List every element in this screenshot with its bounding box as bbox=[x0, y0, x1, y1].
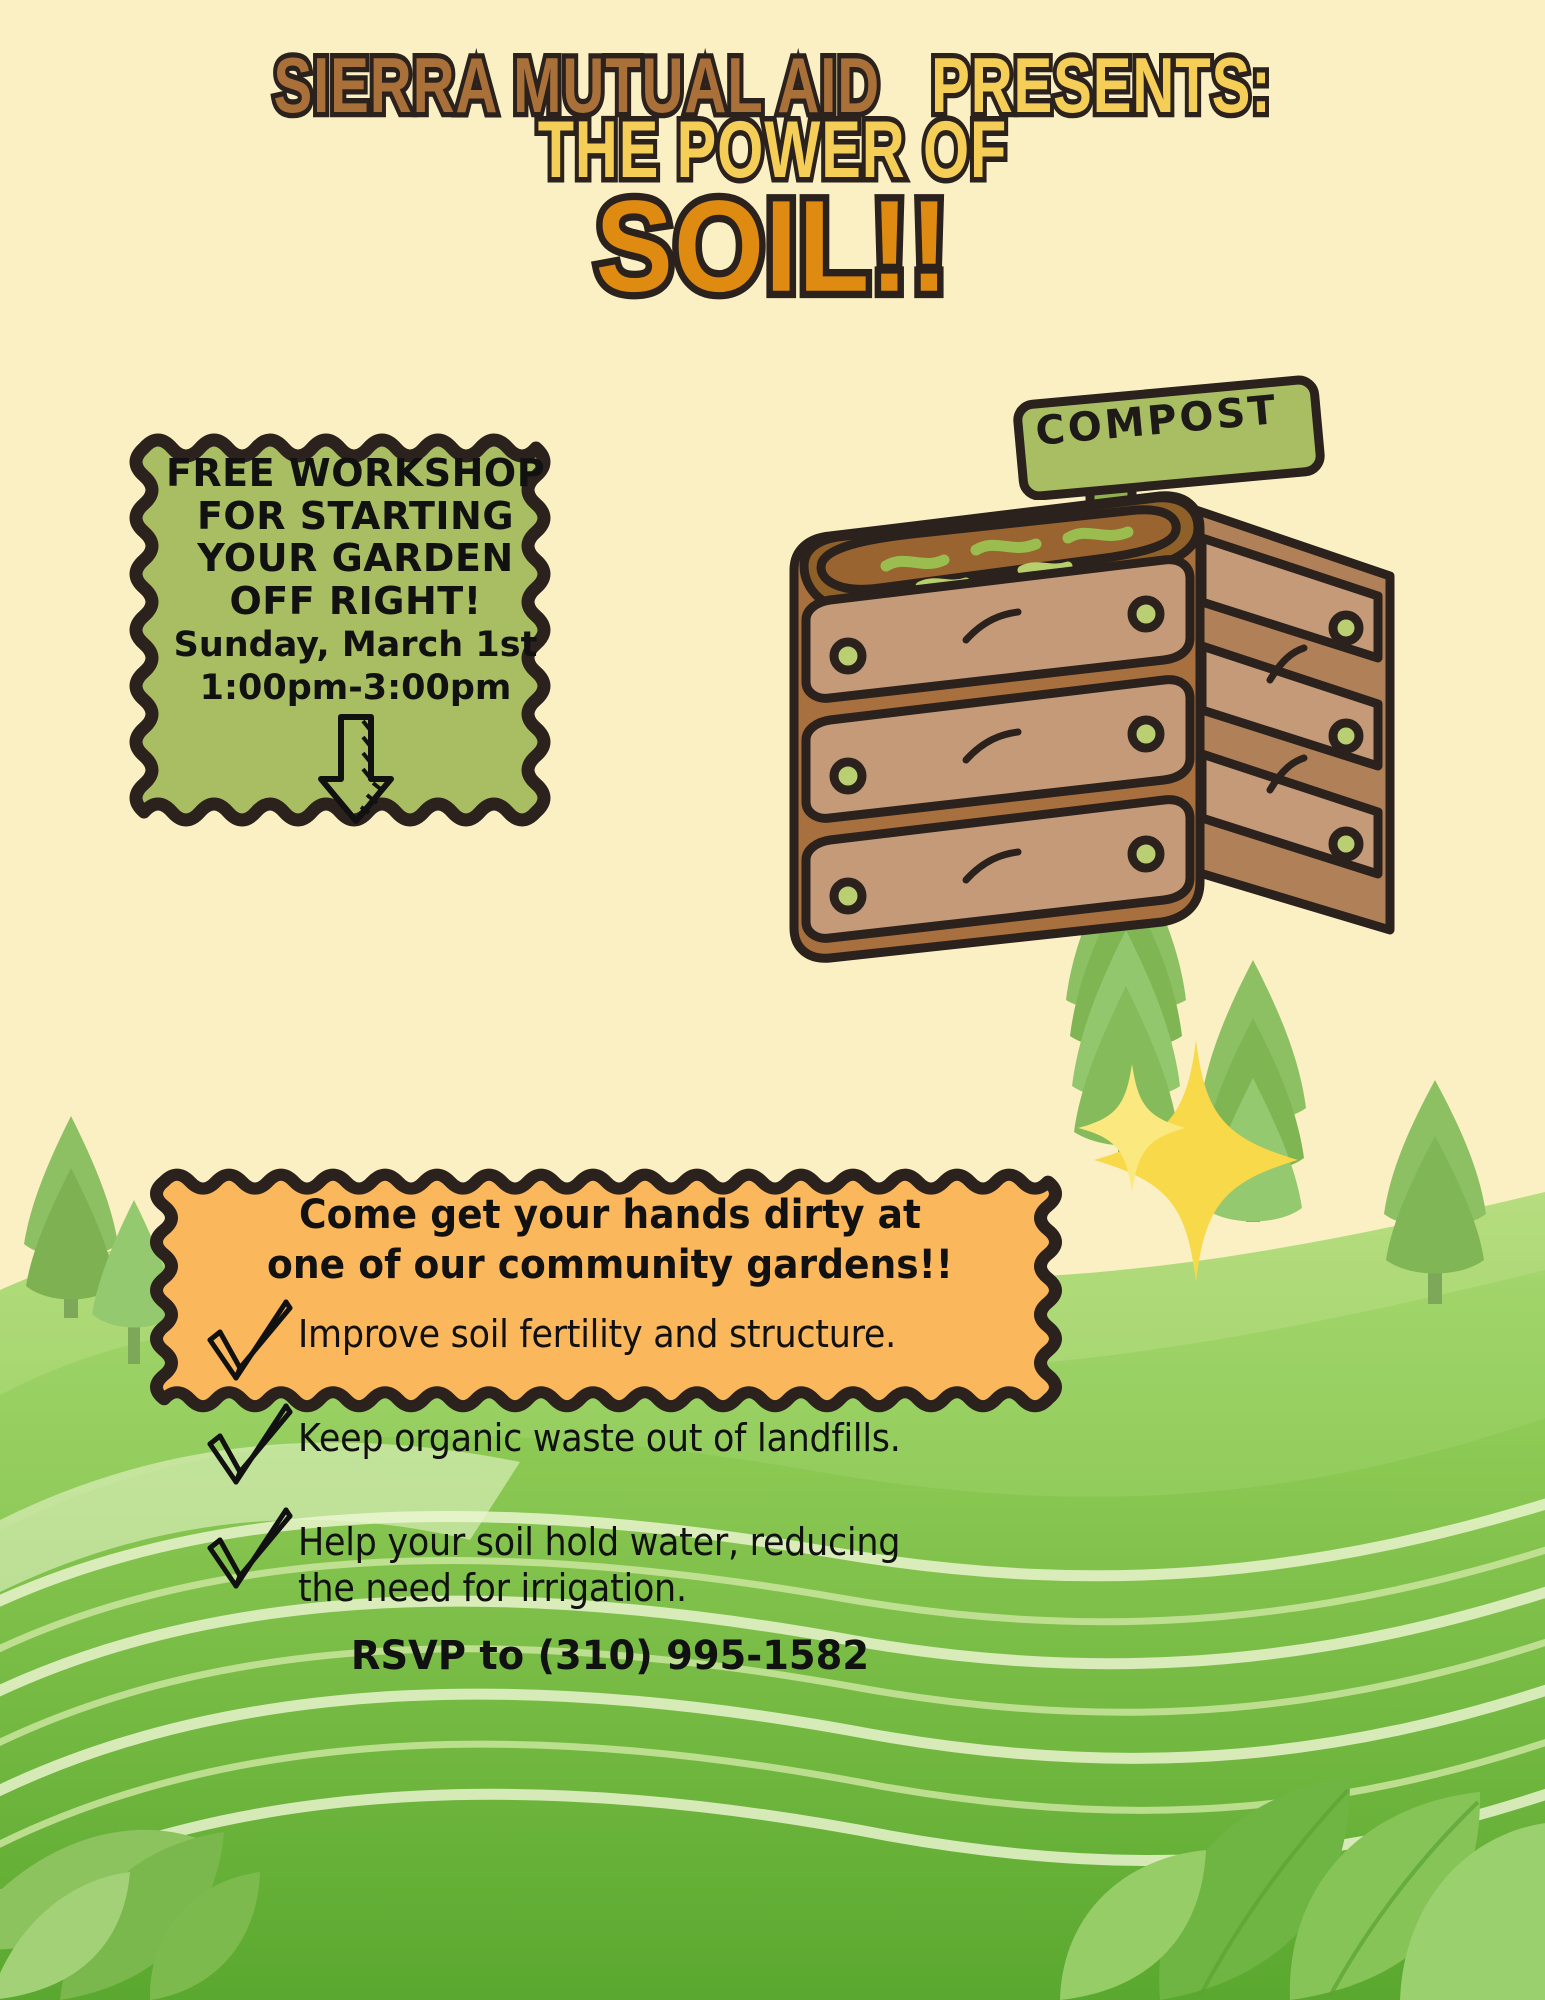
workshop-info-card: FREE WORKSHOP FOR STARTING YOUR GARDEN O… bbox=[128, 418, 583, 878]
check-icon bbox=[200, 1402, 296, 1498]
down-arrow-icon bbox=[311, 713, 401, 829]
benefits-heading-line-1: Come get your hands dirty at bbox=[225, 1190, 996, 1240]
benefit-item-2: Keep organic waste out of landfills. bbox=[200, 1416, 1020, 1498]
workshop-line-4: OFF RIGHT! bbox=[229, 580, 481, 623]
pine-tree-far-right bbox=[1384, 1080, 1486, 1304]
workshop-date: Sunday, March 1st bbox=[174, 626, 538, 665]
benefits-card: Come get your hands dirty at one of our … bbox=[180, 1190, 1040, 1679]
benefit-item-1: Improve soil fertility and structure. bbox=[200, 1312, 1020, 1394]
benefit-text-2: Keep organic waste out of landfills. bbox=[298, 1416, 901, 1462]
check-icon bbox=[200, 1506, 296, 1602]
workshop-line-1: FREE WORKSHOP bbox=[166, 452, 545, 495]
flyer-page: COMPOST SIERRA MUTUAL AID PRESENTS: THE … bbox=[0, 0, 1545, 2000]
foliage-bottom-right bbox=[1060, 1776, 1545, 2000]
flyer-title-block: SIERRA MUTUAL AID PRESENTS: THE POWER OF… bbox=[0, 52, 1545, 304]
rsvp-line: RSVP to (310) 995-1582 bbox=[216, 1633, 1003, 1679]
workshop-line-3: YOUR GARDEN bbox=[197, 537, 513, 580]
title-line-3: SOIL!! bbox=[0, 181, 1545, 311]
foliage-bottom-left bbox=[0, 1830, 224, 2000]
benefits-heading-line-2: one of our community gardens!! bbox=[225, 1240, 996, 1290]
benefit-item-3: Help your soil hold water, reducing the … bbox=[200, 1520, 1020, 1611]
workshop-line-2: FOR STARTING bbox=[197, 495, 514, 538]
pine-tree-left bbox=[24, 1116, 118, 1318]
workshop-time: 1:00pm-3:00pm bbox=[200, 669, 512, 708]
foliage-left-low bbox=[150, 1872, 260, 2000]
benefit-text-1: Improve soil fertility and structure. bbox=[298, 1312, 896, 1358]
check-icon bbox=[200, 1298, 296, 1394]
benefit-text-3: Help your soil hold water, reducing the … bbox=[298, 1520, 962, 1611]
